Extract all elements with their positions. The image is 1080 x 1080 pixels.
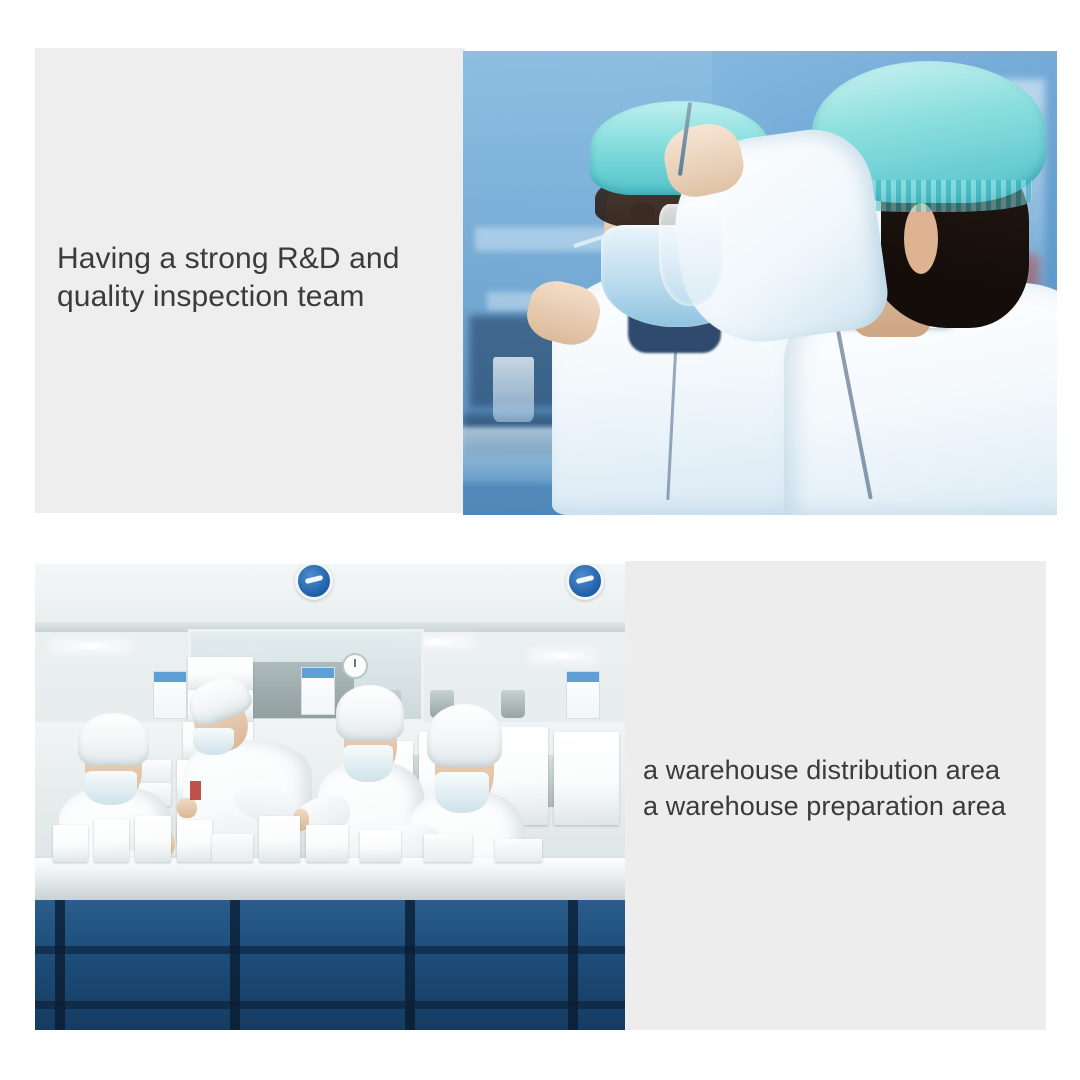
- worker-hand: [177, 798, 196, 819]
- lab-beaker: [493, 357, 535, 422]
- rnd-caption-text: Having a strong R&D and quality inspecti…: [57, 240, 457, 317]
- face-mask-icon: [344, 745, 393, 781]
- box-stack: [306, 825, 347, 862]
- ceiling-light: [53, 643, 130, 649]
- box-stack: [53, 825, 88, 862]
- face-mask-icon: [85, 771, 137, 806]
- table-rail: [35, 946, 625, 954]
- red-item: [190, 781, 200, 799]
- table-rail: [35, 1001, 625, 1009]
- glass-flask: [659, 204, 724, 306]
- box-stack: [94, 820, 129, 862]
- box-stack: [135, 816, 170, 863]
- showcase-canvas: Having a strong R&D and quality inspecti…: [0, 0, 1080, 1080]
- hair-net: [336, 685, 404, 741]
- face-mask-icon: [435, 772, 489, 813]
- box-stack: [177, 820, 212, 862]
- box-stack: [424, 834, 471, 862]
- lab-ear: [904, 203, 938, 274]
- table-leg: [230, 900, 240, 1030]
- table-leg: [55, 900, 65, 1030]
- hair-net: [78, 713, 150, 766]
- wall-clock-icon: [342, 653, 368, 679]
- blue-circular-sign-icon: [566, 564, 604, 600]
- box-stack: [554, 732, 619, 825]
- box-stack: [212, 834, 253, 862]
- warehouse-packing-area-photo: [35, 564, 625, 1030]
- box-stack: [259, 816, 300, 863]
- ceiling-light: [531, 653, 596, 659]
- stainless-steel-table: [35, 858, 625, 905]
- face-mask-icon: [193, 728, 235, 755]
- warehouse-caption-text: a warehouse distribution area a warehous…: [643, 753, 1048, 825]
- table-leg: [568, 900, 578, 1030]
- table-frame: [35, 900, 625, 1030]
- box-stack: [360, 830, 401, 863]
- table-leg: [405, 900, 415, 1030]
- box-stack: [495, 839, 542, 862]
- blue-circular-sign-icon: [295, 564, 333, 600]
- wall-notice: [566, 671, 600, 719]
- laboratory-quality-inspection-photo: [463, 51, 1057, 515]
- hair-net: [427, 704, 503, 767]
